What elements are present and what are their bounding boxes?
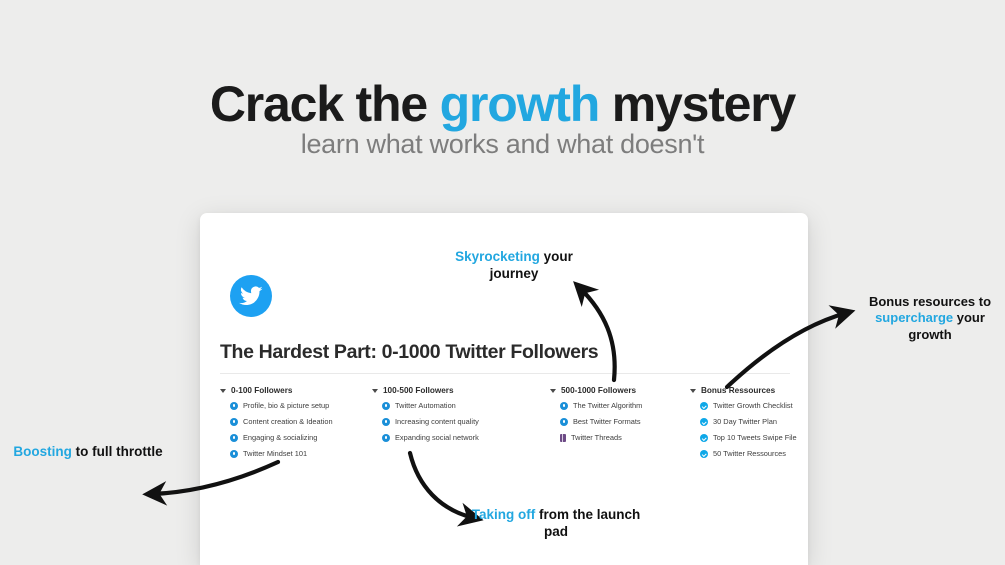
column-header-label: Bonus Ressources: [701, 386, 775, 395]
page-title-accent: growth: [440, 76, 599, 132]
page-title: Crack the growth mystery: [0, 76, 1005, 132]
list-item-label: Twitter Threads: [571, 433, 622, 442]
column-header-label: 100-500 Followers: [383, 386, 454, 395]
list-item[interactable]: Twitter Automation: [382, 401, 550, 410]
list-item[interactable]: 30 Day Twitter Plan: [700, 417, 800, 426]
list-item-label: The Twitter Algorithm: [573, 401, 642, 410]
list-item[interactable]: The Twitter Algorithm: [560, 401, 690, 410]
chevron-down-icon: [550, 389, 556, 393]
list-item[interactable]: Twitter Mindset 101: [230, 449, 372, 458]
page-title-part2: mystery: [599, 76, 795, 132]
column-0-100-followers: 0-100 Followers Profile, bio & picture s…: [220, 386, 372, 465]
list-item[interactable]: Best Twitter Formats: [560, 417, 690, 426]
columns-container: 0-100 Followers Profile, bio & picture s…: [220, 386, 800, 465]
callout-bonus-resources: Bonus resources to supercharge your grow…: [860, 294, 1000, 343]
chevron-down-icon: [690, 389, 696, 393]
column-500-1000-followers: 500-1000 Followers The Twitter Algorithm…: [550, 386, 690, 465]
column-header[interactable]: 500-1000 Followers: [550, 386, 690, 395]
blue-circle-icon: [560, 402, 568, 410]
list-item[interactable]: Twitter Threads: [560, 433, 690, 442]
blue-circle-icon: [382, 402, 390, 410]
chevron-down-icon: [220, 389, 226, 393]
list-item-label: Twitter Growth Checklist: [713, 401, 793, 410]
column-header[interactable]: Bonus Ressources: [690, 386, 800, 395]
list-item-label: Engaging & socializing: [243, 433, 317, 442]
callout-bonus-pre: Bonus resources to: [869, 294, 991, 309]
list-item[interactable]: Content creation & Ideation: [230, 417, 372, 426]
column-header[interactable]: 0-100 Followers: [220, 386, 372, 395]
check-circle-icon: [700, 434, 708, 442]
column-header-label: 500-1000 Followers: [561, 386, 636, 395]
callout-taking-accent: Taking off: [472, 507, 536, 522]
list-item-label: Expanding social network: [395, 433, 479, 442]
twitter-bird-icon: [230, 275, 272, 317]
blue-circle-icon: [382, 434, 390, 442]
callout-boosting-rest: to full throttle: [72, 444, 163, 459]
check-circle-icon: [700, 450, 708, 458]
list-item[interactable]: Increasing content quality: [382, 417, 550, 426]
column-header-label: 0-100 Followers: [231, 386, 292, 395]
list-item-label: Best Twitter Formats: [573, 417, 641, 426]
list-item-label: Profile, bio & picture setup: [243, 401, 329, 410]
blue-circle-icon: [382, 418, 390, 426]
title-divider: [220, 373, 790, 374]
check-circle-icon: [700, 402, 708, 410]
callout-skyrocketing: Skyrocketing your journey: [432, 249, 596, 283]
list-item-label: Content creation & Ideation: [243, 417, 333, 426]
page-title-part1: Crack the: [210, 76, 440, 132]
check-circle-icon: [700, 418, 708, 426]
callout-boosting: Boosting to full throttle: [0, 444, 176, 461]
list-item-label: Top 10 Tweets Swipe File: [713, 433, 797, 442]
column-bonus-resources: Bonus Ressources Twitter Growth Checklis…: [690, 386, 800, 465]
list-item[interactable]: Profile, bio & picture setup: [230, 401, 372, 410]
chevron-down-icon: [372, 389, 378, 393]
poster-canvas: Crack the growth mystery learn what work…: [0, 0, 1005, 565]
callout-skyrocketing-accent: Skyrocketing: [455, 249, 540, 264]
card-title: The Hardest Part: 0-1000 Twitter Followe…: [220, 341, 780, 364]
callout-boosting-accent: Boosting: [13, 444, 72, 459]
blue-circle-icon: [230, 450, 238, 458]
blue-circle-icon: [230, 418, 238, 426]
callout-taking-off: Taking off from the launch pad: [466, 507, 646, 541]
callout-bonus-accent: supercharge: [875, 310, 953, 325]
list-item[interactable]: 50 Twitter Ressources: [700, 449, 800, 458]
column-100-500-followers: 100-500 Followers Twitter Automation Inc…: [372, 386, 550, 465]
blue-circle-icon: [230, 434, 238, 442]
column-header[interactable]: 100-500 Followers: [372, 386, 550, 395]
list-item[interactable]: Engaging & socializing: [230, 433, 372, 442]
list-item-label: Increasing content quality: [395, 417, 479, 426]
list-item-label: Twitter Automation: [395, 401, 456, 410]
list-item-label: 50 Twitter Ressources: [713, 449, 786, 458]
list-item[interactable]: Expanding social network: [382, 433, 550, 442]
page-subtitle: learn what works and what doesn't: [0, 128, 1005, 160]
callout-taking-rest: from the launch pad: [535, 507, 640, 539]
list-item-label: Twitter Mindset 101: [243, 449, 307, 458]
book-icon: [560, 434, 566, 442]
list-item[interactable]: Twitter Growth Checklist: [700, 401, 800, 410]
list-item-label: 30 Day Twitter Plan: [713, 417, 777, 426]
list-item[interactable]: Top 10 Tweets Swipe File: [700, 433, 800, 442]
blue-circle-icon: [560, 418, 568, 426]
blue-circle-icon: [230, 402, 238, 410]
